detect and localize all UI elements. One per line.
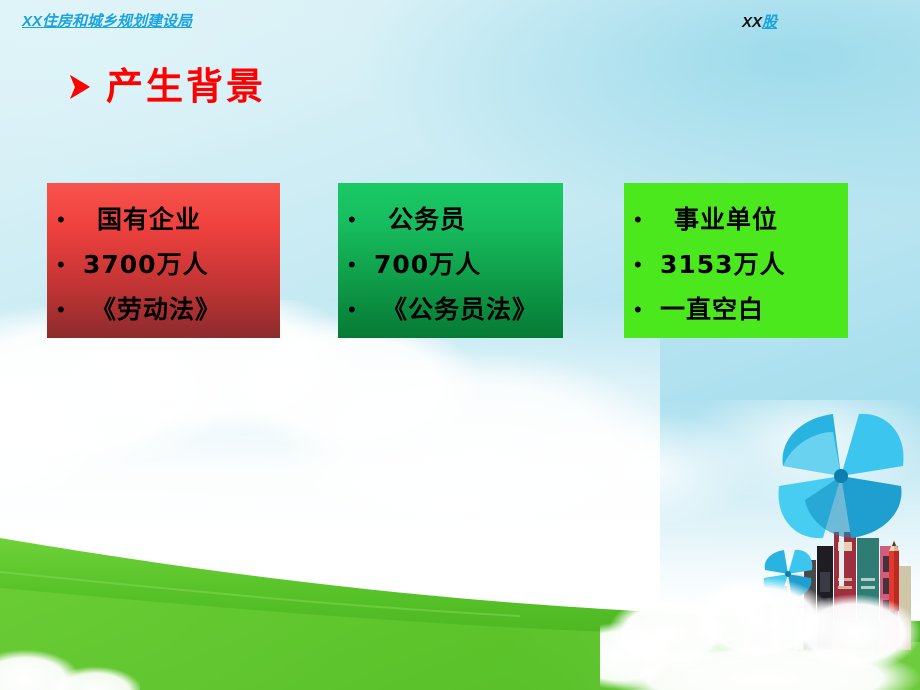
bullet-dot-icon: • xyxy=(634,287,656,332)
list-item: • 国有企业 xyxy=(57,197,272,242)
header-department-suffix: 股 xyxy=(762,14,777,31)
cloud-cluster-bottom-right xyxy=(600,578,920,690)
grass-hill xyxy=(0,510,920,690)
box-green-item-0: 公务员 xyxy=(370,197,466,242)
box-lime-item-2: 一直空白 xyxy=(656,287,764,332)
bullet-dot-icon: • xyxy=(57,287,79,332)
content-box-state-owned-enterprise[interactable]: • 国有企业 • 3700万人 • 《劳动法》 xyxy=(47,183,280,338)
content-box-row: • 国有企业 • 3700万人 • 《劳动法》 • 公务员 • 700万人 xyxy=(0,183,920,339)
cloud-cluster-main xyxy=(0,300,660,680)
bullet-dot-icon: • xyxy=(348,242,370,287)
cloud-cluster-bottom-left xyxy=(0,640,140,690)
bullet-dot-icon: • xyxy=(57,197,79,242)
box-lime-item-1: 3153万人 xyxy=(656,242,786,287)
cloud-cluster-right xyxy=(560,400,920,630)
content-box-public-institution[interactable]: • 事业单位 • 3153万人 • 一直空白 xyxy=(624,183,848,338)
pencil-icon xyxy=(884,540,904,618)
books-icon xyxy=(742,520,920,650)
box-red-item-1: 3700万人 xyxy=(79,242,209,287)
bullet-dot-icon: • xyxy=(634,197,656,242)
header-department-label: XX股 xyxy=(742,11,777,32)
bullet-dot-icon: • xyxy=(348,197,370,242)
box-lime-item-0: 事业单位 xyxy=(656,197,778,242)
bullet-dot-icon: • xyxy=(57,242,79,287)
arrow-bullet-icon xyxy=(68,72,92,102)
box-red-item-2: 《劳动法》 xyxy=(79,287,221,332)
list-item: • 《公务员法》 xyxy=(348,287,555,332)
box-red-item-0: 国有企业 xyxy=(79,197,201,242)
page-title: 产生背景 xyxy=(106,68,266,105)
pinwheel-icon-large xyxy=(768,398,918,588)
list-item: • 事业单位 xyxy=(634,197,840,242)
list-item: • 一直空白 xyxy=(634,287,840,332)
header-organization-label: XX住房和城乡规划建设局 xyxy=(22,10,192,31)
slide-title: 产生背景 xyxy=(68,68,266,105)
box-green-item-2: 《公务员法》 xyxy=(370,287,538,332)
slide-header: XX住房和城乡规划建设局 XX股 xyxy=(0,0,920,40)
list-item: • 3700万人 xyxy=(57,242,272,287)
pinwheel-icon-small xyxy=(756,548,822,610)
bullet-dot-icon: • xyxy=(348,287,370,332)
list-item: • 3153万人 xyxy=(634,242,840,287)
header-department-prefix: XX xyxy=(742,14,762,31)
list-item: • 《劳动法》 xyxy=(57,287,272,332)
bullet-dot-icon: • xyxy=(634,242,656,287)
content-box-civil-servant[interactable]: • 公务员 • 700万人 • 《公务员法》 xyxy=(338,183,563,338)
slide-canvas: XX住房和城乡规划建设局 XX股 产生背景 • 国有企业 • 3700万人 • … xyxy=(0,0,920,690)
box-green-item-1: 700万人 xyxy=(370,242,481,287)
list-item: • 700万人 xyxy=(348,242,555,287)
list-item: • 公务员 xyxy=(348,197,555,242)
